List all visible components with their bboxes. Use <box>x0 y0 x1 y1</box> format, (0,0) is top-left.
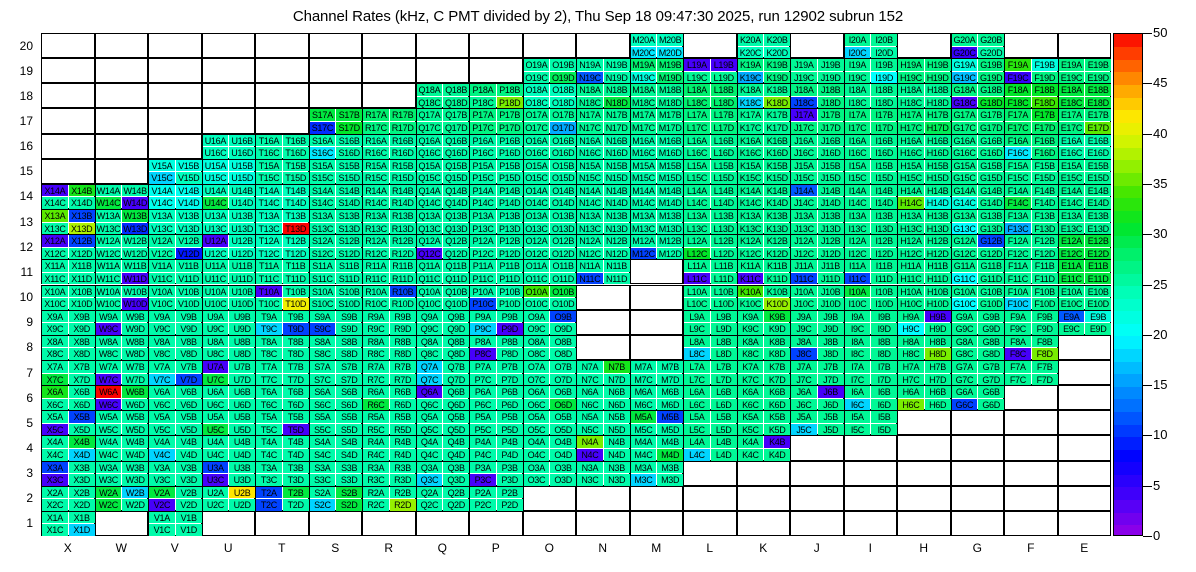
x-tick-L: L <box>683 540 737 556</box>
channel-O5B: O5B <box>550 411 576 423</box>
channel-S14C: S14C <box>310 197 336 209</box>
colorbar-tick-35: 35 <box>1153 177 1167 190</box>
channel-F10D: F10D <box>1032 298 1058 310</box>
channel-X7C: X7C <box>42 374 68 386</box>
channel-E10B: E10B <box>1085 286 1111 298</box>
channel-S2B: S2B <box>336 487 362 499</box>
y-tick-9: 9 <box>5 316 33 328</box>
colorbar-segment <box>1114 524 1142 536</box>
channel-I15B: I15B <box>871 160 897 172</box>
channel-X13B: X13B <box>69 210 95 222</box>
channel-U10C: U10C <box>203 298 229 310</box>
channel-H11C: H11C <box>898 273 924 285</box>
channel-R15C: R15C <box>363 172 389 184</box>
channel-Q11B: Q11B <box>443 260 469 272</box>
channel-W14C: W14C <box>96 197 122 209</box>
channel-J13A: J13A <box>791 210 817 222</box>
channel-S2C: S2C <box>310 499 336 511</box>
channel-S17D: S17D <box>336 122 362 134</box>
y-tick-10: 10 <box>5 291 33 303</box>
channel-F18D: F18D <box>1032 97 1058 109</box>
channel-H16C: H16C <box>898 147 924 159</box>
grid-cell-E2 <box>1058 486 1112 511</box>
channel-P4A: P4A <box>470 436 496 448</box>
channel-G7A: G7A <box>952 361 978 373</box>
channel-W3D: W3D <box>122 474 148 486</box>
channel-N11A: N11A <box>577 260 603 272</box>
channel-O12B: O12B <box>550 235 576 247</box>
channel-J19A: J19A <box>791 59 817 71</box>
channel-H19C: H19C <box>898 72 924 84</box>
channel-X3C: X3C <box>42 474 68 486</box>
channel-R10D: R10D <box>390 298 416 310</box>
channel-I10B: I10B <box>871 286 897 298</box>
channel-Q8A: Q8A <box>417 336 443 348</box>
channel-N5D: N5D <box>604 424 630 436</box>
grid-cell-N2 <box>576 486 630 511</box>
channel-T6D: T6D <box>283 399 309 411</box>
colorbar-tick-25: 25 <box>1153 278 1167 291</box>
channel-F14C: F14C <box>1005 197 1031 209</box>
channel-M15A: M15A <box>631 160 657 172</box>
channel-E16B: E16B <box>1085 135 1111 147</box>
channel-P5B: P5B <box>497 411 523 423</box>
channel-S17A: S17A <box>310 109 336 121</box>
channel-N4D: N4D <box>604 449 630 461</box>
channel-I20C: I20C <box>845 47 871 59</box>
channel-F15C: F15C <box>1005 172 1031 184</box>
channel-W12D: W12D <box>122 248 148 260</box>
channel-X6B: X6B <box>69 386 95 398</box>
grid-cell-E6 <box>1058 385 1112 410</box>
channel-N15A: N15A <box>577 160 603 172</box>
grid-cell-K1 <box>737 511 791 536</box>
channel-T14B: T14B <box>283 185 309 197</box>
channel-P3A: P3A <box>470 462 496 474</box>
channel-P8C: P8C <box>470 348 496 360</box>
channel-L9D: L9D <box>711 323 737 335</box>
channel-O5A: O5A <box>524 411 550 423</box>
channel-U4C: U4C <box>203 449 229 461</box>
channel-V7D: V7D <box>176 374 202 386</box>
channel-I7B: I7B <box>871 361 897 373</box>
grid-cell-X20 <box>41 33 95 58</box>
channel-J13B: J13B <box>818 210 844 222</box>
channel-I12B: I12B <box>871 235 897 247</box>
channel-X9D: X9D <box>69 323 95 335</box>
channel-L15C: L15C <box>684 172 710 184</box>
channel-V4A: V4A <box>149 436 175 448</box>
channel-W2B: W2B <box>122 487 148 499</box>
channel-Q9C: Q9C <box>417 323 443 335</box>
channel-H18C: H18C <box>898 97 924 109</box>
colorbar-segment <box>1114 97 1142 110</box>
x-tick-U: U <box>201 540 255 556</box>
channel-S8B: S8B <box>336 336 362 348</box>
channel-U5A: U5A <box>203 411 229 423</box>
channel-G13C: G13C <box>952 223 978 235</box>
channel-V3B: V3B <box>176 462 202 474</box>
channel-M3A: M3A <box>631 462 657 474</box>
channel-H13A: H13A <box>898 210 924 222</box>
channel-E9C: E9C <box>1059 323 1085 335</box>
channel-M5C: M5C <box>631 424 657 436</box>
channel-W14A: W14A <box>96 185 122 197</box>
channel-O6A: O6A <box>524 386 550 398</box>
channel-J5B: J5B <box>818 411 844 423</box>
channel-O14D: O14D <box>550 197 576 209</box>
channel-K8A: K8A <box>738 336 764 348</box>
channel-G10A: G10A <box>952 286 978 298</box>
channel-Q15A: Q15A <box>417 160 443 172</box>
channel-T7B: T7B <box>283 361 309 373</box>
colorbar-tick-mark <box>1143 134 1152 135</box>
channel-F7B: F7B <box>1032 361 1058 373</box>
channel-V14C: V14C <box>149 197 175 209</box>
channel-R4D: R4D <box>390 449 416 461</box>
channel-L5A: L5A <box>684 411 710 423</box>
grid-cell-I1 <box>844 511 898 536</box>
channel-K17A: K17A <box>738 109 764 121</box>
channel-L5B: L5B <box>711 411 737 423</box>
channel-U6C: U6C <box>203 399 229 411</box>
channel-S16C: S16C <box>310 147 336 159</box>
channel-K14B: K14B <box>764 185 790 197</box>
channel-V9C: V9C <box>149 323 175 335</box>
channel-F10B: F10B <box>1032 286 1058 298</box>
channel-U7D: U7D <box>229 374 255 386</box>
x-tick-V: V <box>148 540 202 556</box>
colorbar-tick-45: 45 <box>1153 76 1167 89</box>
channel-S13D: S13D <box>336 223 362 235</box>
grid-cell-F4 <box>1004 435 1058 460</box>
channel-E15D: E15D <box>1085 172 1111 184</box>
grid-cell-F2 <box>1004 486 1058 511</box>
channel-V9D: V9D <box>176 323 202 335</box>
channel-T12C: T12C <box>256 248 282 260</box>
channel-L15B: L15B <box>711 160 737 172</box>
channel-P7B: P7B <box>497 361 523 373</box>
channel-J10A: J10A <box>791 286 817 298</box>
channel-T3B: T3B <box>283 462 309 474</box>
channel-U15B: U15B <box>229 160 255 172</box>
channel-M15D: M15D <box>657 172 683 184</box>
channel-V5B: V5B <box>176 411 202 423</box>
channel-H18B: H18B <box>925 84 951 96</box>
channel-W11B: W11B <box>122 260 148 272</box>
channel-T6A: T6A <box>256 386 282 398</box>
channel-G19C: G19C <box>952 72 978 84</box>
channel-Q14B: Q14B <box>443 185 469 197</box>
channel-U6B: U6B <box>229 386 255 398</box>
channel-Q5C: Q5C <box>417 424 443 436</box>
channel-H6D: H6D <box>925 399 951 411</box>
channel-F12D: F12D <box>1032 248 1058 260</box>
channel-E15C: E15C <box>1059 172 1085 184</box>
channel-O19C: O19C <box>524 72 550 84</box>
channel-N3C: N3C <box>577 474 603 486</box>
channel-Q13B: Q13B <box>443 210 469 222</box>
channel-S16D: S16D <box>336 147 362 159</box>
channel-X4B: X4B <box>69 436 95 448</box>
channel-X9B: X9B <box>69 311 95 323</box>
channel-F9C: F9C <box>1005 323 1031 335</box>
channel-M18B: M18B <box>657 84 683 96</box>
grid-cell-M9 <box>630 310 684 335</box>
channel-Q7B: Q7B <box>443 361 469 373</box>
channel-L6A: L6A <box>684 386 710 398</box>
channel-V14A: V14A <box>149 185 175 197</box>
grid-cell-F1 <box>1004 511 1058 536</box>
channel-V6A: V6A <box>149 386 175 398</box>
colorbar-segment <box>1114 59 1142 72</box>
y-axis: 2019181716151413121110987654321 <box>0 33 33 536</box>
channel-O15A: O15A <box>524 160 550 172</box>
channel-M12A: M12A <box>631 235 657 247</box>
grid-cell-E3 <box>1058 461 1112 486</box>
channel-V12B: V12B <box>176 235 202 247</box>
channel-W4B: W4B <box>122 436 148 448</box>
channel-Q2B: Q2B <box>443 487 469 499</box>
channel-U2D: U2D <box>229 499 255 511</box>
channel-N3A: N3A <box>577 462 603 474</box>
channel-S5D: S5D <box>336 424 362 436</box>
channel-S8C: S8C <box>310 348 336 360</box>
channel-R12B: R12B <box>390 235 416 247</box>
channel-P13C: P13C <box>470 223 496 235</box>
channel-G14D: G14D <box>978 197 1004 209</box>
channel-O9A: O9A <box>524 311 550 323</box>
channel-H14B: H14B <box>925 185 951 197</box>
channel-N19B: N19B <box>604 59 630 71</box>
grid-cell-H1 <box>897 511 951 536</box>
channel-G7C: G7C <box>952 374 978 386</box>
channel-O11A: O11A <box>524 260 550 272</box>
channel-J5A: J5A <box>791 411 817 423</box>
channel-U12A: U12A <box>203 235 229 247</box>
channel-F7A: F7A <box>1005 361 1031 373</box>
channel-O10B: O10B <box>550 286 576 298</box>
channel-O15D: O15D <box>550 172 576 184</box>
channel-Q4C: Q4C <box>417 449 443 461</box>
grid-cell-H20 <box>897 33 951 58</box>
channel-P2C: P2C <box>470 499 496 511</box>
channel-K7C: K7C <box>738 374 764 386</box>
colorbar-segment <box>1114 185 1142 198</box>
channel-J8B: J8B <box>818 336 844 348</box>
channel-J19D: J19D <box>818 72 844 84</box>
channel-H19A: H19A <box>898 59 924 71</box>
channel-F19C: F19C <box>1005 72 1031 84</box>
channel-O10C: O10C <box>524 298 550 310</box>
channel-L12C: L12C <box>684 248 710 260</box>
colorbar-segment <box>1114 348 1142 361</box>
channel-T11A: T11A <box>256 260 282 272</box>
channel-N5B: N5B <box>604 411 630 423</box>
channel-U4A: U4A <box>203 436 229 448</box>
channel-F11A: F11A <box>1005 260 1031 272</box>
channel-K18A: K18A <box>738 84 764 96</box>
channel-W9D: W9D <box>122 323 148 335</box>
channel-I10D: I10D <box>871 298 897 310</box>
channel-M7C: M7C <box>631 374 657 386</box>
channel-J11D: J11D <box>818 273 844 285</box>
channel-Q6A: Q6A <box>417 386 443 398</box>
channel-M3B: M3B <box>657 462 683 474</box>
channel-G8D: G8D <box>978 348 1004 360</box>
channel-L12D: L12D <box>711 248 737 260</box>
channel-K17C: K17C <box>738 122 764 134</box>
channel-S3A: S3A <box>310 462 336 474</box>
grid-cell-N1 <box>576 511 630 536</box>
channel-I19D: I19D <box>871 72 897 84</box>
channel-I8D: I8D <box>871 348 897 360</box>
channel-G13B: G13B <box>978 210 1004 222</box>
channel-X5B: X5B <box>69 411 95 423</box>
channel-U3C: U3C <box>203 474 229 486</box>
channel-N19A: N19A <box>577 59 603 71</box>
channel-T13A: T13A <box>256 210 282 222</box>
channel-X6D: X6D <box>69 399 95 411</box>
channel-X12B: X12B <box>69 235 95 247</box>
grid-cell-M1 <box>630 511 684 536</box>
channel-K6B: K6B <box>764 386 790 398</box>
channel-W6C: W6C <box>96 399 122 411</box>
colorbar-segment <box>1114 323 1142 336</box>
channel-S9D: S9D <box>336 323 362 335</box>
channel-M17D: M17D <box>657 122 683 134</box>
channel-R17C: R17C <box>363 122 389 134</box>
channel-G16B: G16B <box>978 135 1004 147</box>
colorbar-segment <box>1114 210 1142 223</box>
y-tick-6: 6 <box>5 392 33 404</box>
channel-Q6C: Q6C <box>417 399 443 411</box>
x-tick-M: M <box>629 540 683 556</box>
channel-R8B: R8B <box>390 336 416 348</box>
grid-cell-V16 <box>148 134 202 159</box>
channel-H17B: H17B <box>925 109 951 121</box>
channel-W2A: W2A <box>96 487 122 499</box>
y-tick-5: 5 <box>5 417 33 429</box>
channel-W8C: W8C <box>96 348 122 360</box>
channel-M19C: M19C <box>631 72 657 84</box>
channel-F17A: F17A <box>1005 109 1031 121</box>
channel-I18D: I18D <box>871 97 897 109</box>
channel-N11D: N11D <box>604 273 630 285</box>
channel-L15A: L15A <box>684 160 710 172</box>
channel-U5B: U5B <box>229 411 255 423</box>
channel-T9C: T9C <box>256 323 282 335</box>
channel-P9B: P9B <box>497 311 523 323</box>
channel-O19B: O19B <box>550 59 576 71</box>
channel-W3B: W3B <box>122 462 148 474</box>
channel-N18A: N18A <box>577 84 603 96</box>
colorbar-tick-5: 5 <box>1153 479 1160 492</box>
colorbar-segment <box>1114 84 1142 97</box>
channel-U7C: U7C <box>203 374 229 386</box>
channel-P15A: P15A <box>470 160 496 172</box>
channel-O7D: O7D <box>550 374 576 386</box>
channel-O4D: O4D <box>550 449 576 461</box>
channel-P15C: P15C <box>470 172 496 184</box>
channel-W12A: W12A <box>96 235 122 247</box>
channel-G7D: G7D <box>978 374 1004 386</box>
channel-V4D: V4D <box>176 449 202 461</box>
channel-G13D: G13D <box>978 223 1004 235</box>
channel-E18B: E18B <box>1085 84 1111 96</box>
channel-S3B: S3B <box>336 462 362 474</box>
channel-R8C: R8C <box>363 348 389 360</box>
channel-W9A: W9A <box>96 311 122 323</box>
channel-L19B: L19B <box>711 59 737 71</box>
channel-W6A: W6A <box>96 386 122 398</box>
channel-H13D: H13D <box>925 223 951 235</box>
channel-V10D: V10D <box>176 298 202 310</box>
channel-W10C: W10C <box>96 298 122 310</box>
channel-U4B: U4B <box>229 436 255 448</box>
channel-O13A: O13A <box>524 210 550 222</box>
channel-F17C: F17C <box>1005 122 1031 134</box>
channel-U13A: U13A <box>203 210 229 222</box>
channel-K19B: K19B <box>764 59 790 71</box>
channel-L13B: L13B <box>711 210 737 222</box>
channel-U14A: U14A <box>203 185 229 197</box>
channel-I16A: I16A <box>845 135 871 147</box>
channel-S4D: S4D <box>336 449 362 461</box>
channel-R11A: R11A <box>363 260 389 272</box>
channel-M5A: M5A <box>631 411 657 423</box>
channel-W4A: W4A <box>96 436 122 448</box>
channel-U9B: U9B <box>229 311 255 323</box>
grid-cell-T17 <box>255 108 309 133</box>
channel-T13C: T13C <box>256 223 282 235</box>
channel-N17A: N17A <box>577 109 603 121</box>
channel-X2B: X2B <box>69 487 95 499</box>
channel-N13D: N13D <box>604 223 630 235</box>
grid-cell-S1 <box>309 511 363 536</box>
channel-R4B: R4B <box>390 436 416 448</box>
channel-O8C: O8C <box>524 348 550 360</box>
channel-O14C: O14C <box>524 197 550 209</box>
channel-N4C: N4C <box>577 449 603 461</box>
channel-V5C: V5C <box>149 424 175 436</box>
channel-K18B: K18B <box>764 84 790 96</box>
channel-U15D: U15D <box>229 172 255 184</box>
channel-F13D: F13D <box>1032 223 1058 235</box>
channel-N16B: N16B <box>604 135 630 147</box>
colorbar-tick-mark <box>1143 184 1152 185</box>
channel-L11D: L11D <box>711 273 737 285</box>
channel-H6B: H6B <box>925 386 951 398</box>
channel-P16B: P16B <box>497 135 523 147</box>
colorbar-tick-mark <box>1143 335 1152 336</box>
grid-cell-U1 <box>202 511 256 536</box>
channel-J14D: J14D <box>818 197 844 209</box>
channel-W8A: W8A <box>96 336 122 348</box>
colorbar-segment <box>1114 449 1142 462</box>
channel-X9A: X9A <box>42 311 68 323</box>
channel-F12A: F12A <box>1005 235 1031 247</box>
channel-K11C: K11C <box>738 273 764 285</box>
channel-R12D: R12D <box>390 248 416 260</box>
channel-K19A: K19A <box>738 59 764 71</box>
channel-T7C: T7C <box>256 374 282 386</box>
grid-cell-F3 <box>1004 461 1058 486</box>
grid-cell-H4 <box>897 435 951 460</box>
grid-cell-H5 <box>897 410 951 435</box>
grid-cell-M10 <box>630 285 684 310</box>
channel-M20A: M20A <box>631 34 657 46</box>
